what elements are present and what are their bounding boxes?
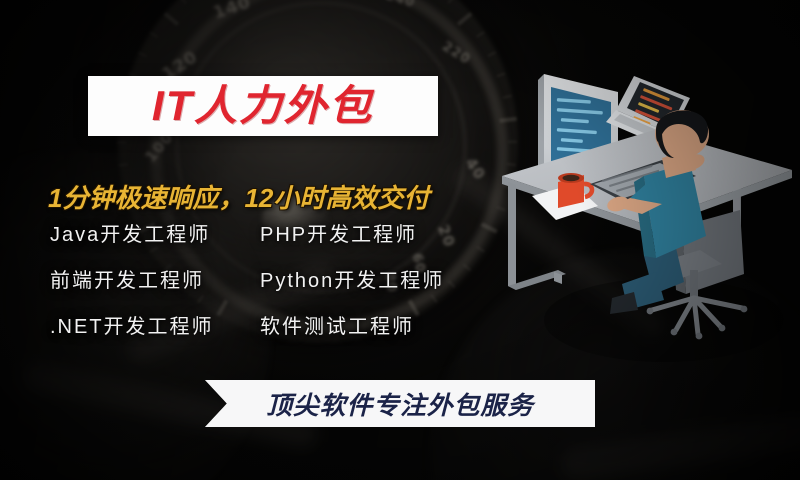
bottom-ribbon: 顶尖软件专注外包服务: [205, 380, 595, 427]
service-list: Java开发工程师 PHP开发工程师 前端开发工程师 Python开发工程师 .…: [50, 222, 510, 340]
service-item: 前端开发工程师: [50, 268, 260, 294]
developer-illustration: [494, 58, 800, 370]
bottom-ribbon-text: 顶尖软件专注外包服务: [266, 386, 534, 422]
service-item: PHP开发工程师: [260, 222, 490, 248]
chair-column: [690, 270, 698, 298]
poster-canvas: 12014010020401602202408060: [0, 0, 800, 480]
service-item: Java开发工程师: [50, 222, 260, 248]
title-banner: IT人力外包: [88, 76, 438, 136]
page-title: IT人力外包: [152, 85, 374, 127]
subtitle-tagline: 1分钟极速响应，12小时高效交付: [48, 178, 429, 215]
bottom-ribbon-surface: 顶尖软件专注外包服务: [205, 380, 595, 427]
service-item: .NET开发工程师: [50, 314, 260, 340]
service-item: 软件测试工程师: [260, 314, 490, 340]
service-item: Python开发工程师: [260, 268, 490, 294]
